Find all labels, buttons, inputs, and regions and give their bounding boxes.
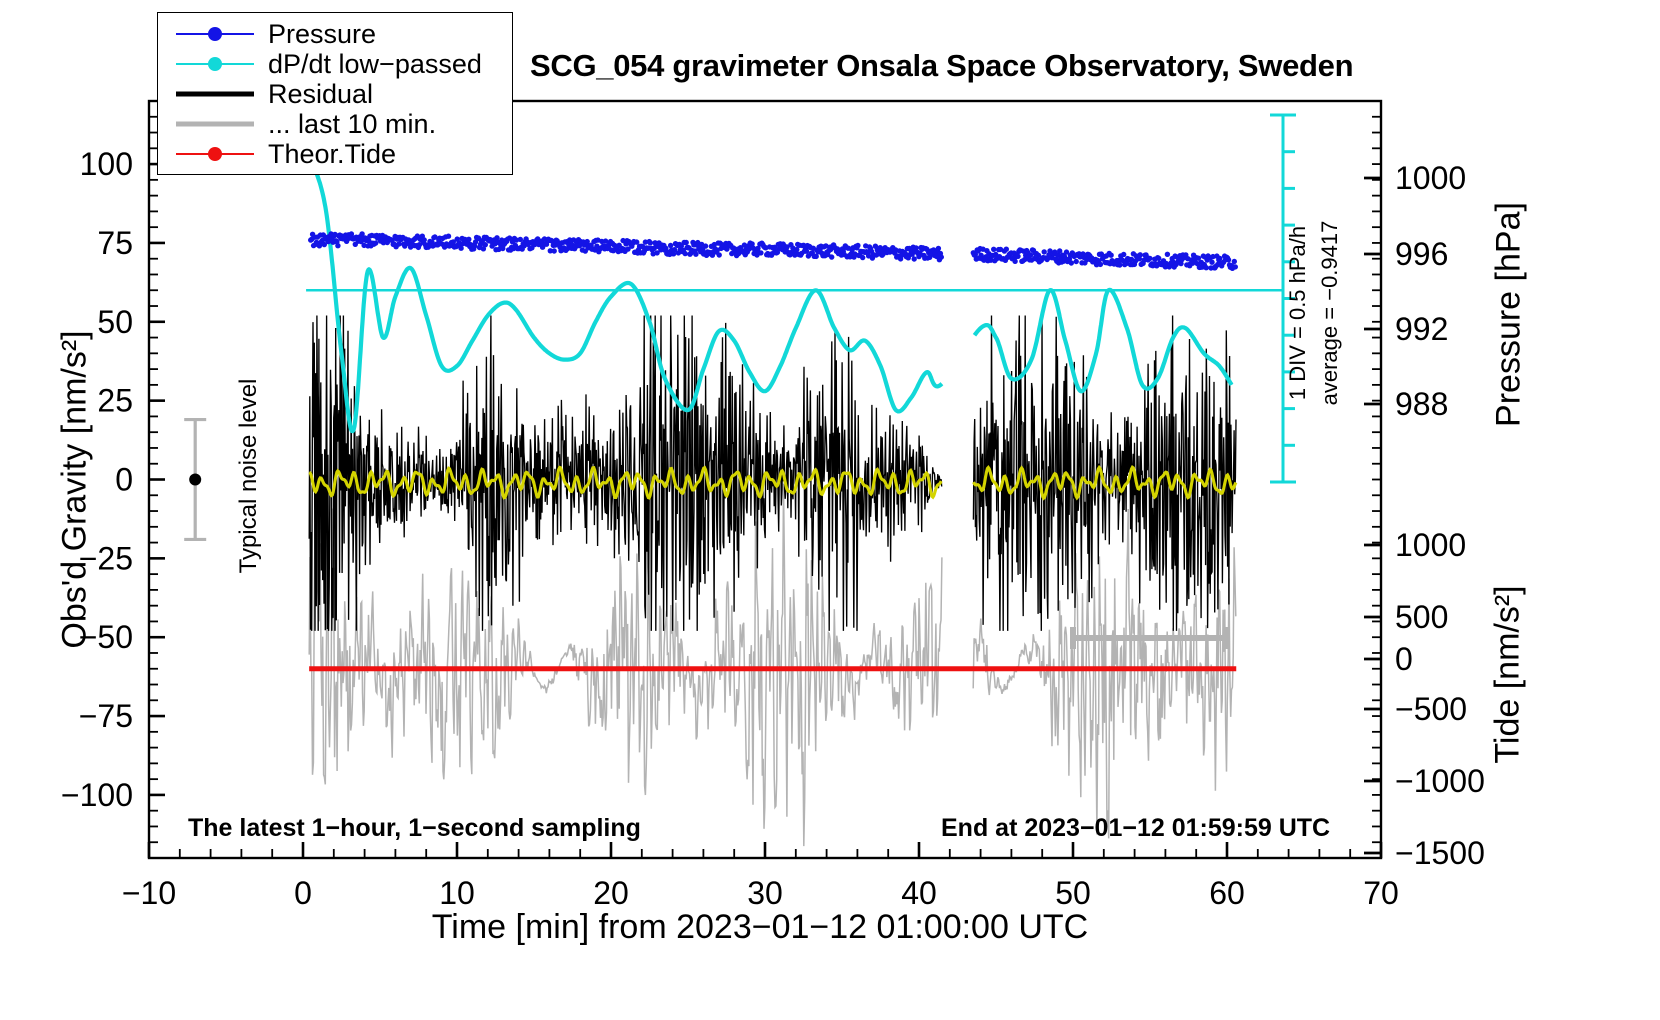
noise-bar-center-dot bbox=[189, 474, 201, 486]
y-right-tide-tick-label: −1000 bbox=[1395, 763, 1485, 799]
y-left-tick-label: 75 bbox=[97, 225, 133, 261]
y-right-pressure-axis-label: Pressure [hPa] bbox=[1490, 165, 1529, 465]
y-left-tick-label: 50 bbox=[97, 304, 133, 340]
y-right-pressure-tick-label: 996 bbox=[1395, 236, 1448, 272]
legend-label: ... last 10 min. bbox=[268, 109, 436, 140]
legend-item-last-10-min: ... last 10 min. bbox=[158, 109, 512, 139]
legend-label: dP/dt low−passed bbox=[268, 49, 482, 80]
x-tick-label: 40 bbox=[901, 875, 937, 911]
legend-item-theor-tide: Theor.Tide bbox=[158, 139, 512, 169]
legend-swatch bbox=[172, 19, 258, 49]
y-right-tide-tick-label: −1500 bbox=[1395, 835, 1485, 871]
legend-swatch bbox=[172, 79, 258, 109]
y-left-tick-label: −100 bbox=[61, 777, 133, 813]
legend-label: Theor.Tide bbox=[268, 139, 396, 170]
chart-title: SCG_054 gravimeter Onsala Space Observat… bbox=[530, 48, 1410, 84]
y-right-tide-tick-label: 0 bbox=[1395, 641, 1413, 677]
y-right-pressure-tick-label: 992 bbox=[1395, 311, 1448, 347]
gravimeter-plot: −100102030405060701007550250−25−50−75−10… bbox=[0, 0, 1660, 1020]
legend-label: Residual bbox=[268, 79, 373, 110]
x-axis-label: Time [min] from 2023−01−12 01:00:00 UTC bbox=[330, 908, 1190, 947]
x-tick-label: 10 bbox=[439, 875, 475, 911]
y-left-axis-label: Obs'd Gravity [nm/s²] bbox=[56, 240, 95, 740]
noise-level-label: Typical noise level bbox=[235, 361, 263, 591]
y-left-tick-label: 100 bbox=[80, 146, 133, 182]
x-tick-label: 20 bbox=[593, 875, 629, 911]
legend: PressuredP/dt low−passedResidual... last… bbox=[157, 12, 513, 175]
y-right-tide-tick-label: −500 bbox=[1395, 691, 1467, 727]
x-tick-label: 60 bbox=[1209, 875, 1245, 911]
footer-left-note: The latest 1−hour, 1−second sampling bbox=[188, 814, 641, 843]
legend-label: Pressure bbox=[268, 19, 376, 50]
legend-item-pressure: Pressure bbox=[158, 19, 512, 49]
y-right-tide-tick-label: 1000 bbox=[1395, 527, 1466, 563]
scalebar-average-label: average = −0.9417 bbox=[1317, 198, 1343, 428]
y-right-pressure-tick-label: 988 bbox=[1395, 386, 1448, 422]
x-tick-label: 0 bbox=[294, 875, 312, 911]
scalebar-div-label: 1 DIV = 0.5 hPa/h bbox=[1285, 198, 1311, 428]
x-tick-label: 30 bbox=[747, 875, 783, 911]
y-left-tick-label: 0 bbox=[115, 462, 133, 498]
legend-swatch bbox=[172, 139, 258, 169]
x-tick-label: −10 bbox=[122, 875, 176, 911]
x-tick-label: 50 bbox=[1055, 875, 1091, 911]
legend-swatch bbox=[172, 109, 258, 139]
x-tick-label: 70 bbox=[1363, 875, 1399, 911]
legend-item-dp-dt-low-passed: dP/dt low−passed bbox=[158, 49, 512, 79]
legend-swatch bbox=[172, 49, 258, 79]
footer-right-note: End at 2023−01−12 01:59:59 UTC bbox=[941, 814, 1330, 843]
y-right-tide-tick-label: 500 bbox=[1395, 599, 1448, 635]
y-right-tide-axis-label: Tide [nm/s²] bbox=[1489, 550, 1528, 800]
legend-item-residual: Residual bbox=[158, 79, 512, 109]
y-right-pressure-tick-label: 1000 bbox=[1395, 160, 1466, 196]
y-left-tick-label: 25 bbox=[97, 383, 133, 419]
